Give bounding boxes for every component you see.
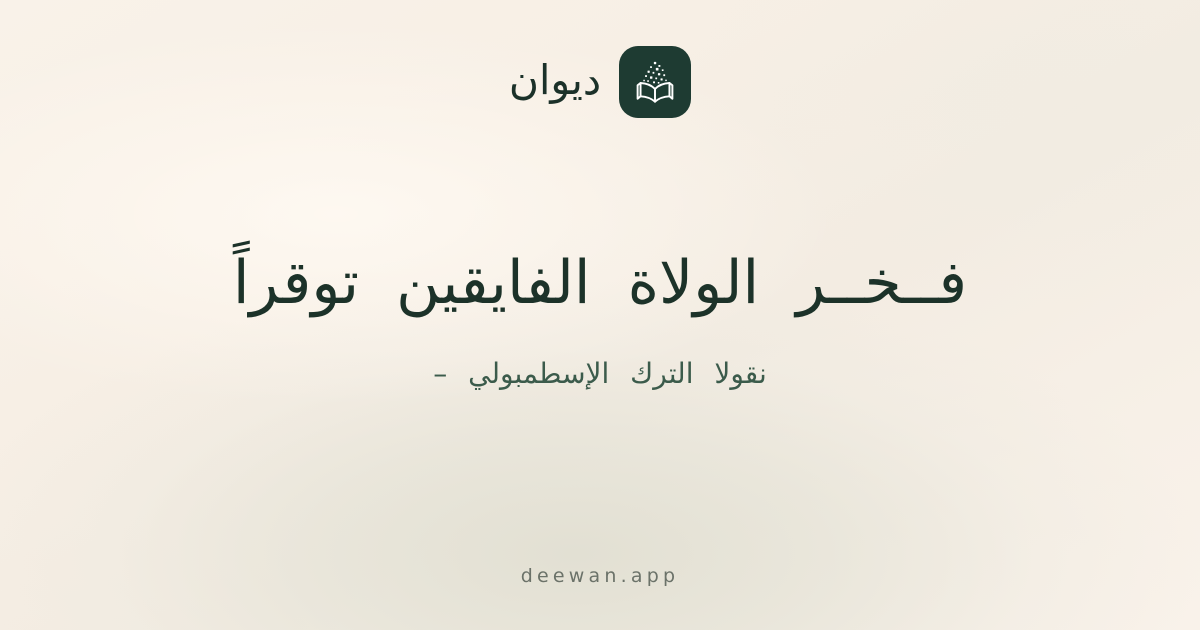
open-book-sparkles-icon [629,56,681,108]
site-url[interactable]: deewan.app [521,567,679,586]
app-logo-tile[interactable] [619,46,691,118]
share-card: ديوان فــخــر الولاة الفايقين توقراً نقو… [0,0,1200,630]
poem-block: فــخــر الولاة الفايقين توقراً نقولا الت… [0,118,1200,567]
poem-title: فــخــر الولاة الفايقين توقراً [233,247,967,320]
brand-header[interactable]: ديوان [509,46,691,118]
brand-wordmark: ديوان [509,60,601,105]
poet-name: نقولا الترك الإسطمبولي – [433,356,767,392]
